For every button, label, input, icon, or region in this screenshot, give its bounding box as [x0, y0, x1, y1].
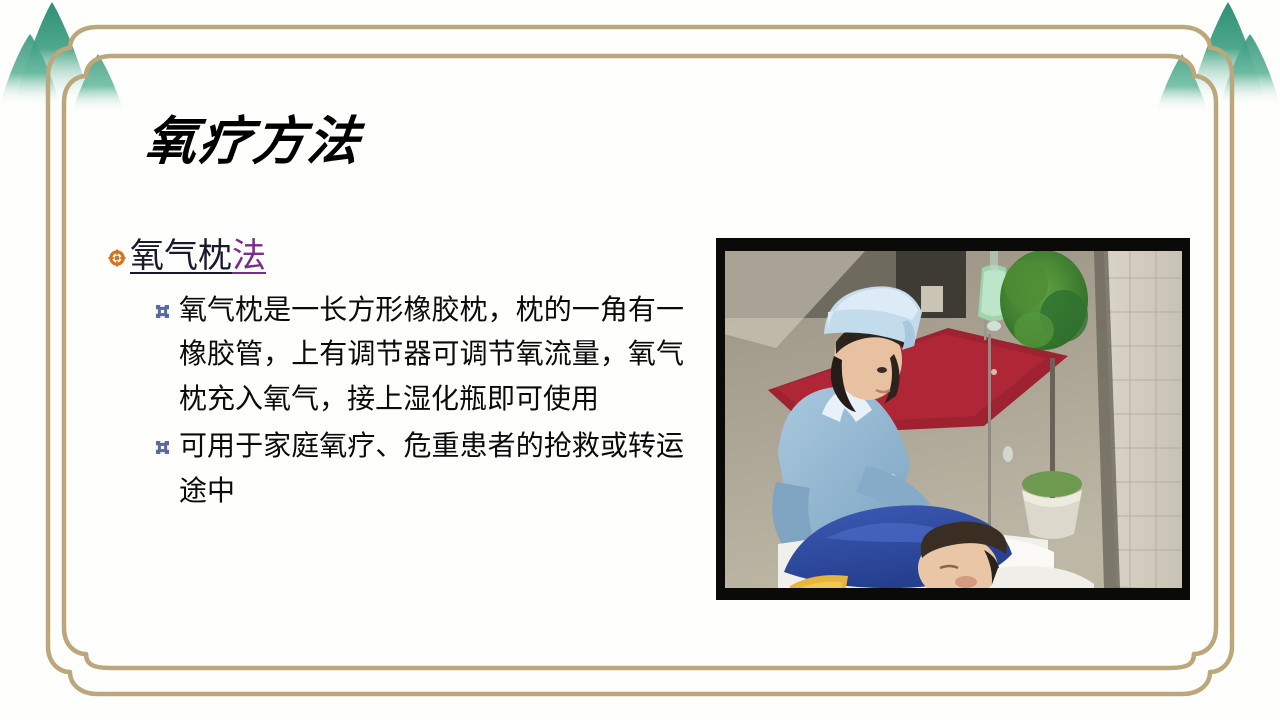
nurse-patient-oxygen-pillow-photo — [716, 238, 1190, 600]
list-item-text: 氧气枕是一长方形橡胶枕，枕的一角有一橡胶管，上有调节器可调节氧流量，氧气枕充入氧… — [179, 289, 684, 423]
bullet-list: 氧气枕是一长方形橡胶枕，枕的一角有一橡胶管，上有调节器可调节氧流量，氧气枕充入氧… — [108, 289, 708, 515]
heading-text-accent: 法 — [232, 238, 266, 275]
mountain-decoration-left — [0, 2, 124, 112]
list-item: 可用于家庭氧疗、危重患者的抢救或转运途中 — [156, 425, 708, 515]
slide-canvas: 氧疗方法 氧气枕法 — [0, 0, 1280, 720]
decorated-square-icon — [156, 305, 169, 318]
heading-text: 氧气枕法 — [130, 236, 266, 279]
target-crosshair-icon — [108, 249, 126, 267]
mountain-decoration-right — [1156, 2, 1280, 112]
list-item-text: 可用于家庭氧疗、危重患者的抢救或转运途中 — [179, 425, 684, 515]
decorated-square-icon — [156, 441, 169, 454]
heading-text-primary: 氧气枕 — [130, 238, 232, 275]
list-item: 氧气枕是一长方形橡胶枕，枕的一角有一橡胶管，上有调节器可调节氧流量，氧气枕充入氧… — [156, 289, 708, 423]
content-body: 氧气枕法 氧气枕是一长方形橡胶枕，枕的一角有一橡胶管，上有调节器可调节氧流量，氧… — [108, 236, 708, 516]
heading-row: 氧气枕法 — [108, 236, 708, 279]
slide-title: 氧疗方法 — [142, 113, 364, 173]
